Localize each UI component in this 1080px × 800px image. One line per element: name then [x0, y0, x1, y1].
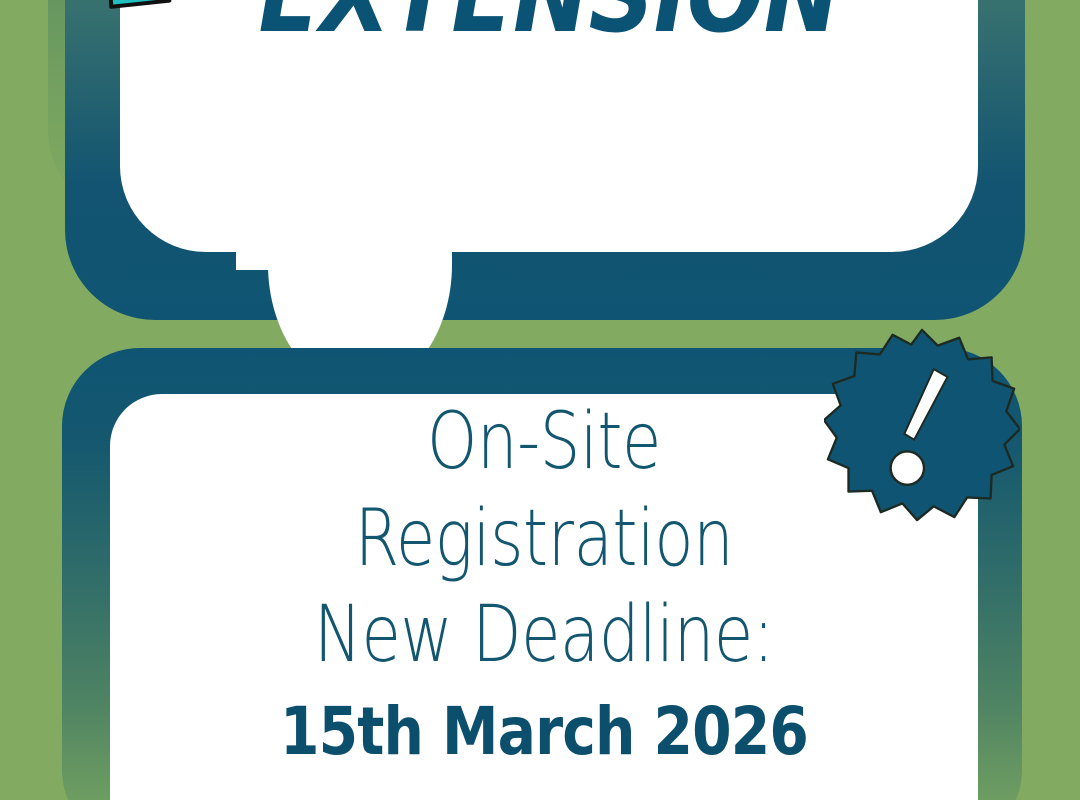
poster-canvas: DEADLINE EXTENSION On-Site Registration … [0, 0, 1080, 800]
sticky-note-icon [108, 0, 178, 28]
announcement-line-3: New Deadline: [188, 587, 900, 684]
announcement-date: 15th March 2026 [171, 696, 917, 769]
exclamation-badge-icon [824, 326, 1020, 522]
announcement-line-2: Registration [188, 491, 900, 588]
announcement-line-1: On-Site [188, 394, 900, 491]
headline: DEADLINE EXTENSION [120, 0, 978, 43]
headline-line-2: EXTENSION [171, 0, 926, 43]
